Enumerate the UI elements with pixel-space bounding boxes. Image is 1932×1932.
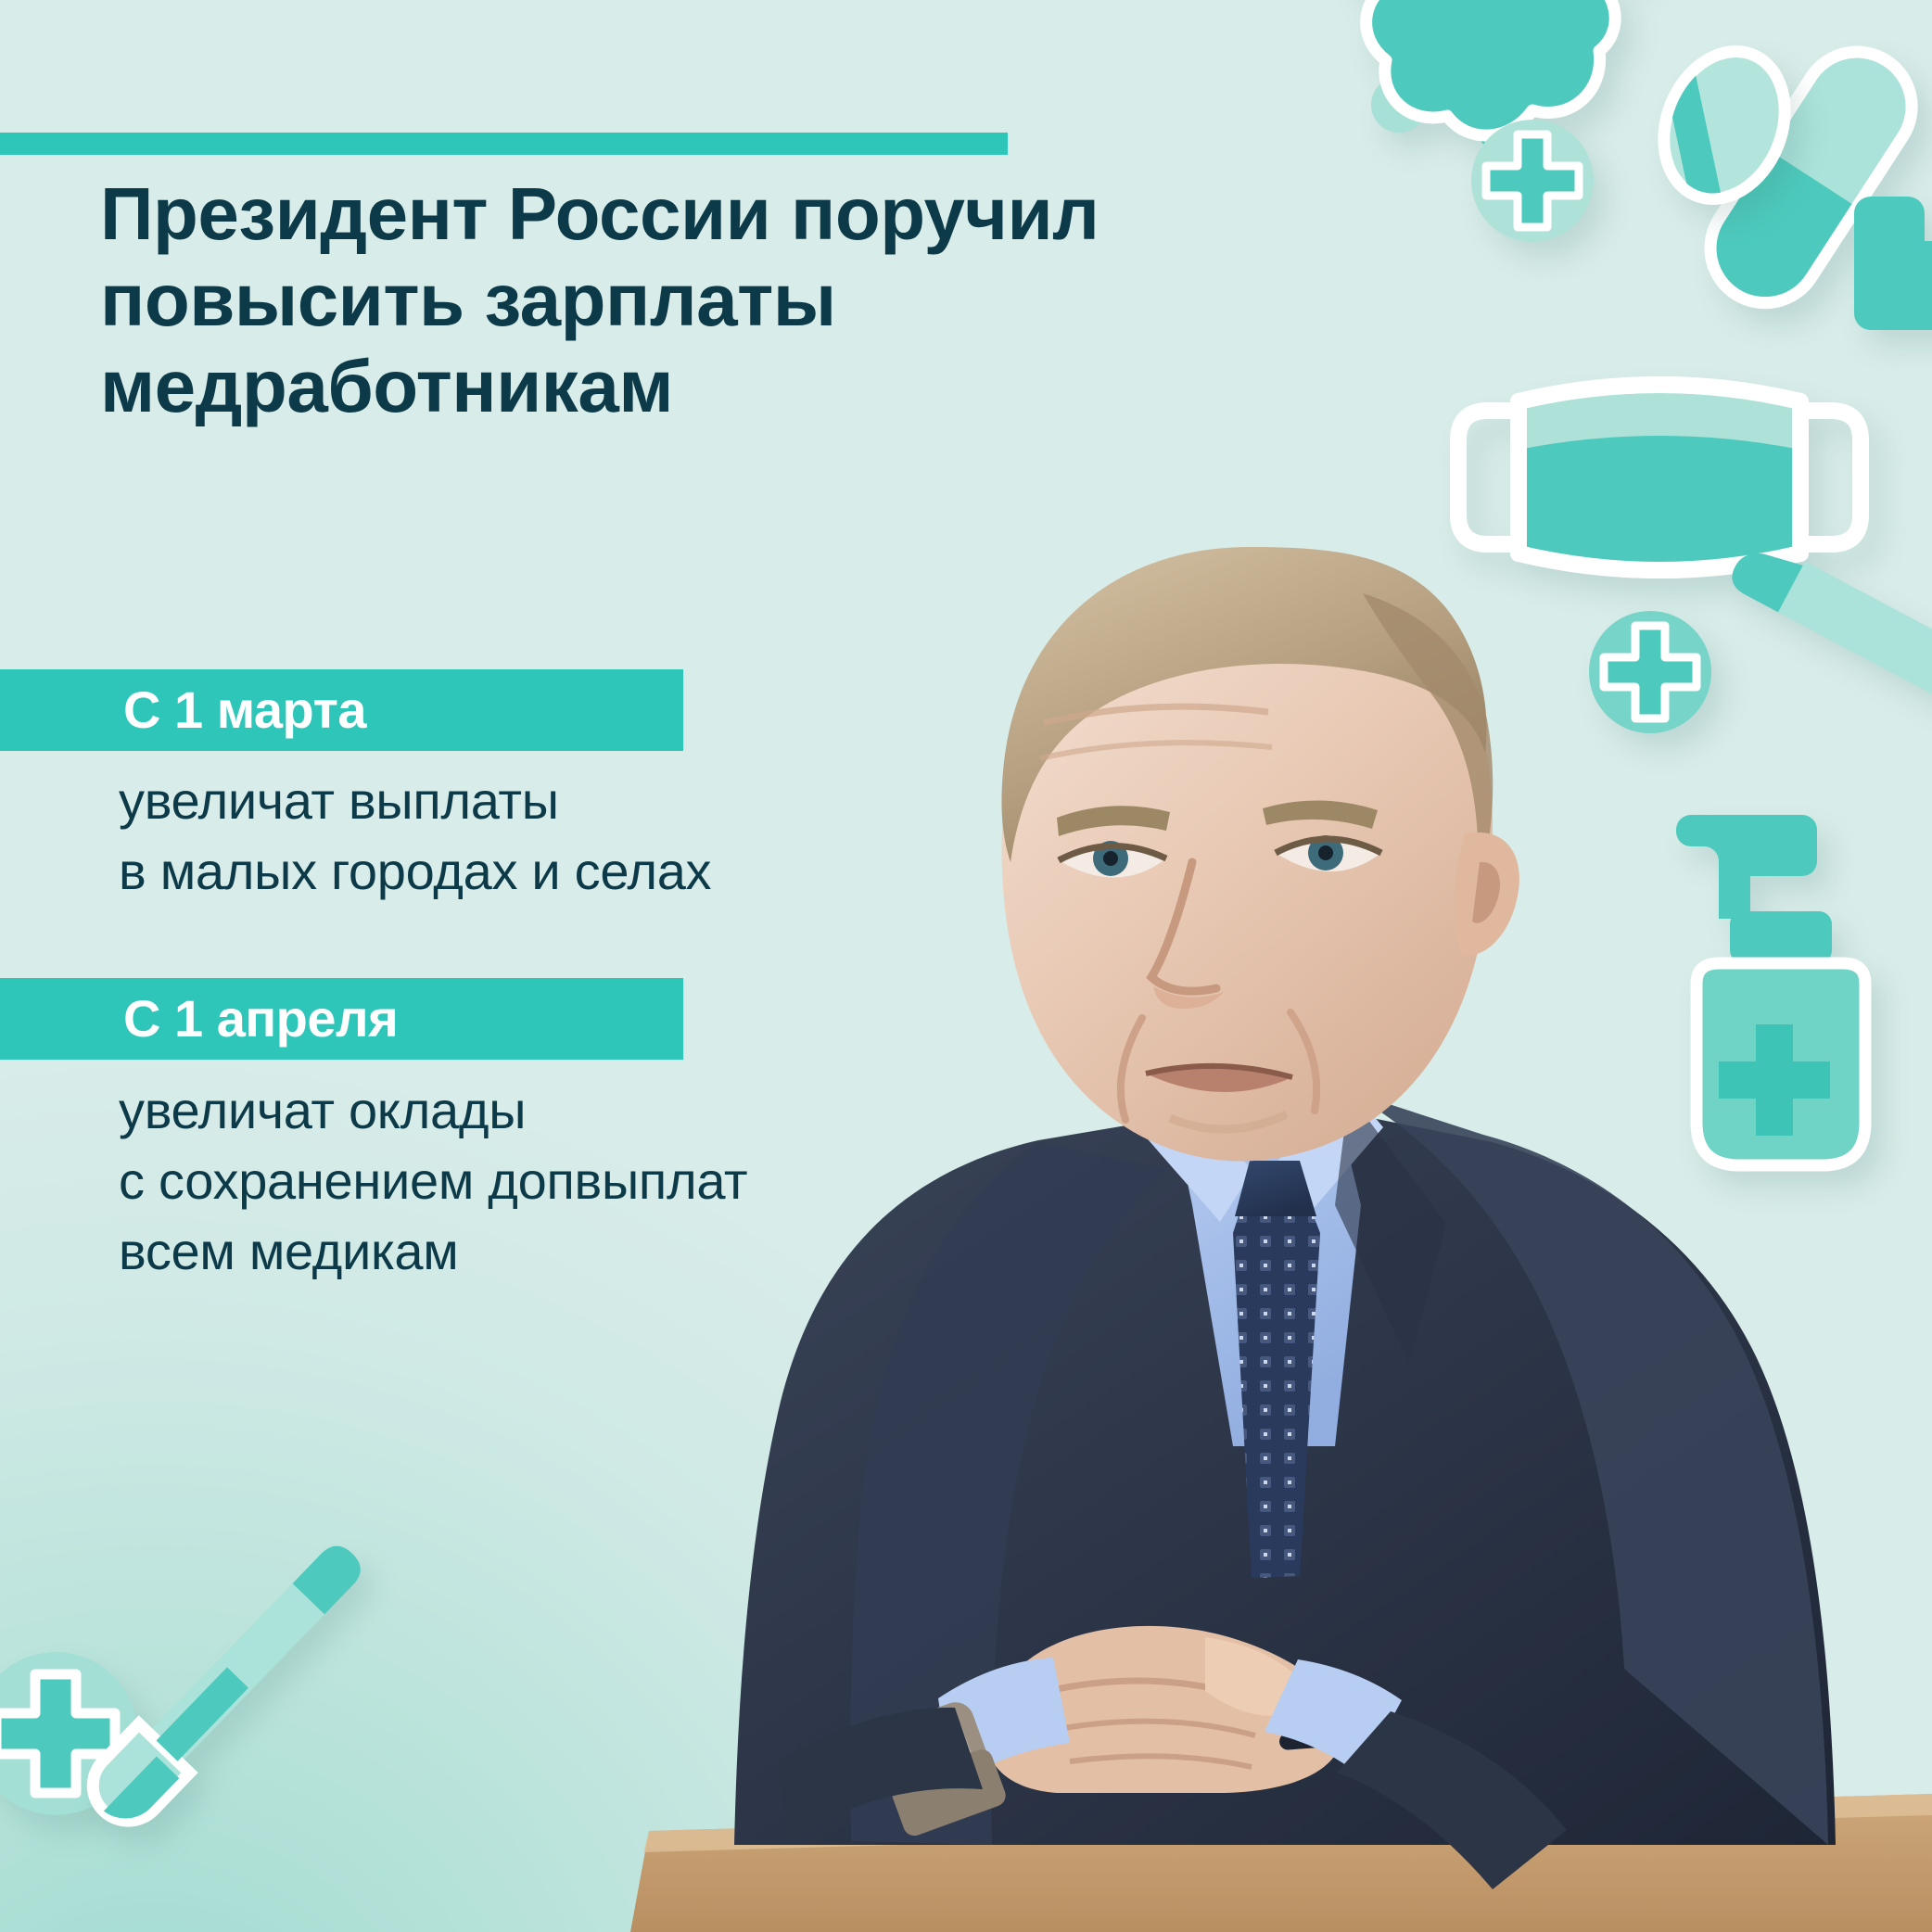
pill-tablet-icon (1636, 28, 1812, 222)
block-march-text: увеличат выплаты в малых городах и селах (119, 766, 711, 907)
medical-cross-icon (1463, 111, 1602, 250)
date-badge-march: С 1 марта (0, 669, 683, 751)
face-mask-icon (1446, 357, 1873, 598)
virus-icon (1321, 0, 1655, 218)
pill-capsule-icon (1669, 28, 1932, 334)
infographic-canvas: Президент России поручил повысить зарпла… (0, 0, 1932, 1932)
top-accent-bar (0, 133, 1008, 155)
date-badge-april: С 1 апреля (0, 978, 683, 1060)
thermometer-icon (28, 1506, 436, 1914)
medicine-bottle-icon (1845, 181, 1932, 348)
page-title: Президент России поручил повысить зарпла… (100, 172, 1138, 429)
thermometer-icon (1701, 482, 1932, 760)
sanitizer-bottle-icon (1659, 793, 1928, 1191)
date-badge-april-label: С 1 апреля (123, 993, 398, 1045)
date-badge-march-label: С 1 марта (123, 684, 366, 736)
medical-cross-icon (0, 1641, 148, 1826)
medical-cross-icon (1581, 603, 1720, 742)
block-april-text: увеличат оклады с сохранением допвыплат … (119, 1075, 747, 1287)
